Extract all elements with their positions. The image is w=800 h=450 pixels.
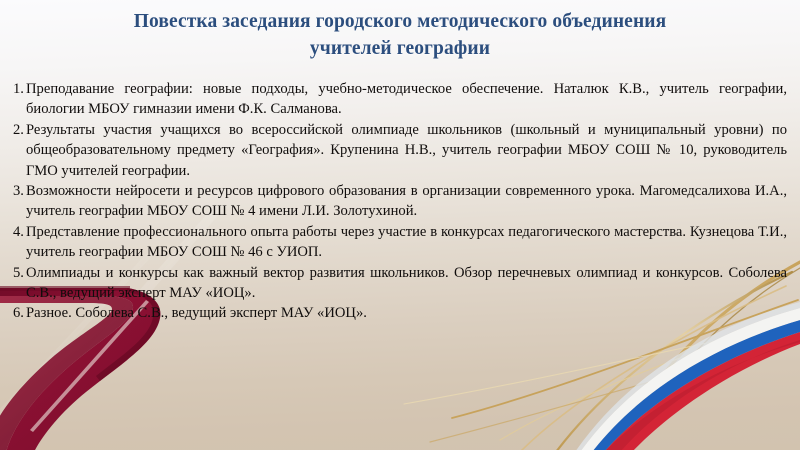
agenda-item-text: Возможности нейросети и ресурсов цифрово… bbox=[26, 181, 787, 222]
slide-title-line-2: учителей географии bbox=[0, 35, 800, 62]
agenda-item-4: 4. Представление профессионального опыта… bbox=[13, 222, 787, 263]
agenda-item-2: 2. Результаты участия учащихся во всерос… bbox=[13, 120, 787, 181]
agenda-item-text: Разное. Соболева С.В., ведущий эксперт М… bbox=[26, 303, 787, 323]
agenda-item-5: 5. Олимпиады и конкурсы как важный векто… bbox=[13, 263, 787, 304]
agenda-item-text: Преподавание географии: новые подходы, у… bbox=[26, 79, 787, 120]
agenda-item-text: Олимпиады и конкурсы как важный вектор р… bbox=[26, 263, 787, 304]
agenda-item-number: 5. bbox=[13, 263, 24, 283]
agenda-item-number: 1. bbox=[13, 79, 24, 99]
agenda-item-number: 3. bbox=[13, 181, 24, 201]
agenda-item-number: 2. bbox=[13, 120, 24, 140]
agenda-item-6: 6. Разное. Соболева С.В., ведущий экспер… bbox=[13, 303, 787, 323]
slide-title-line-1: Повестка заседания городского методическ… bbox=[0, 8, 800, 35]
agenda-item-number: 4. bbox=[13, 222, 24, 242]
agenda-item-number: 6. bbox=[13, 303, 24, 323]
agenda-item-text: Результаты участия учащихся во всероссий… bbox=[26, 120, 787, 181]
agenda-item-3: 3. Возможности нейросети и ресурсов цифр… bbox=[13, 181, 787, 222]
russian-tricolor-ribbon bbox=[575, 302, 800, 450]
presentation-slide: Повестка заседания городского методическ… bbox=[0, 0, 800, 450]
agenda-list: 1. Преподавание географии: новые подходы… bbox=[13, 79, 787, 324]
agenda-item-text: Представление профессионального опыта ра… bbox=[26, 222, 787, 263]
slide-title: Повестка заседания городского методическ… bbox=[0, 8, 800, 62]
agenda-item-1: 1. Преподавание географии: новые подходы… bbox=[13, 79, 787, 120]
